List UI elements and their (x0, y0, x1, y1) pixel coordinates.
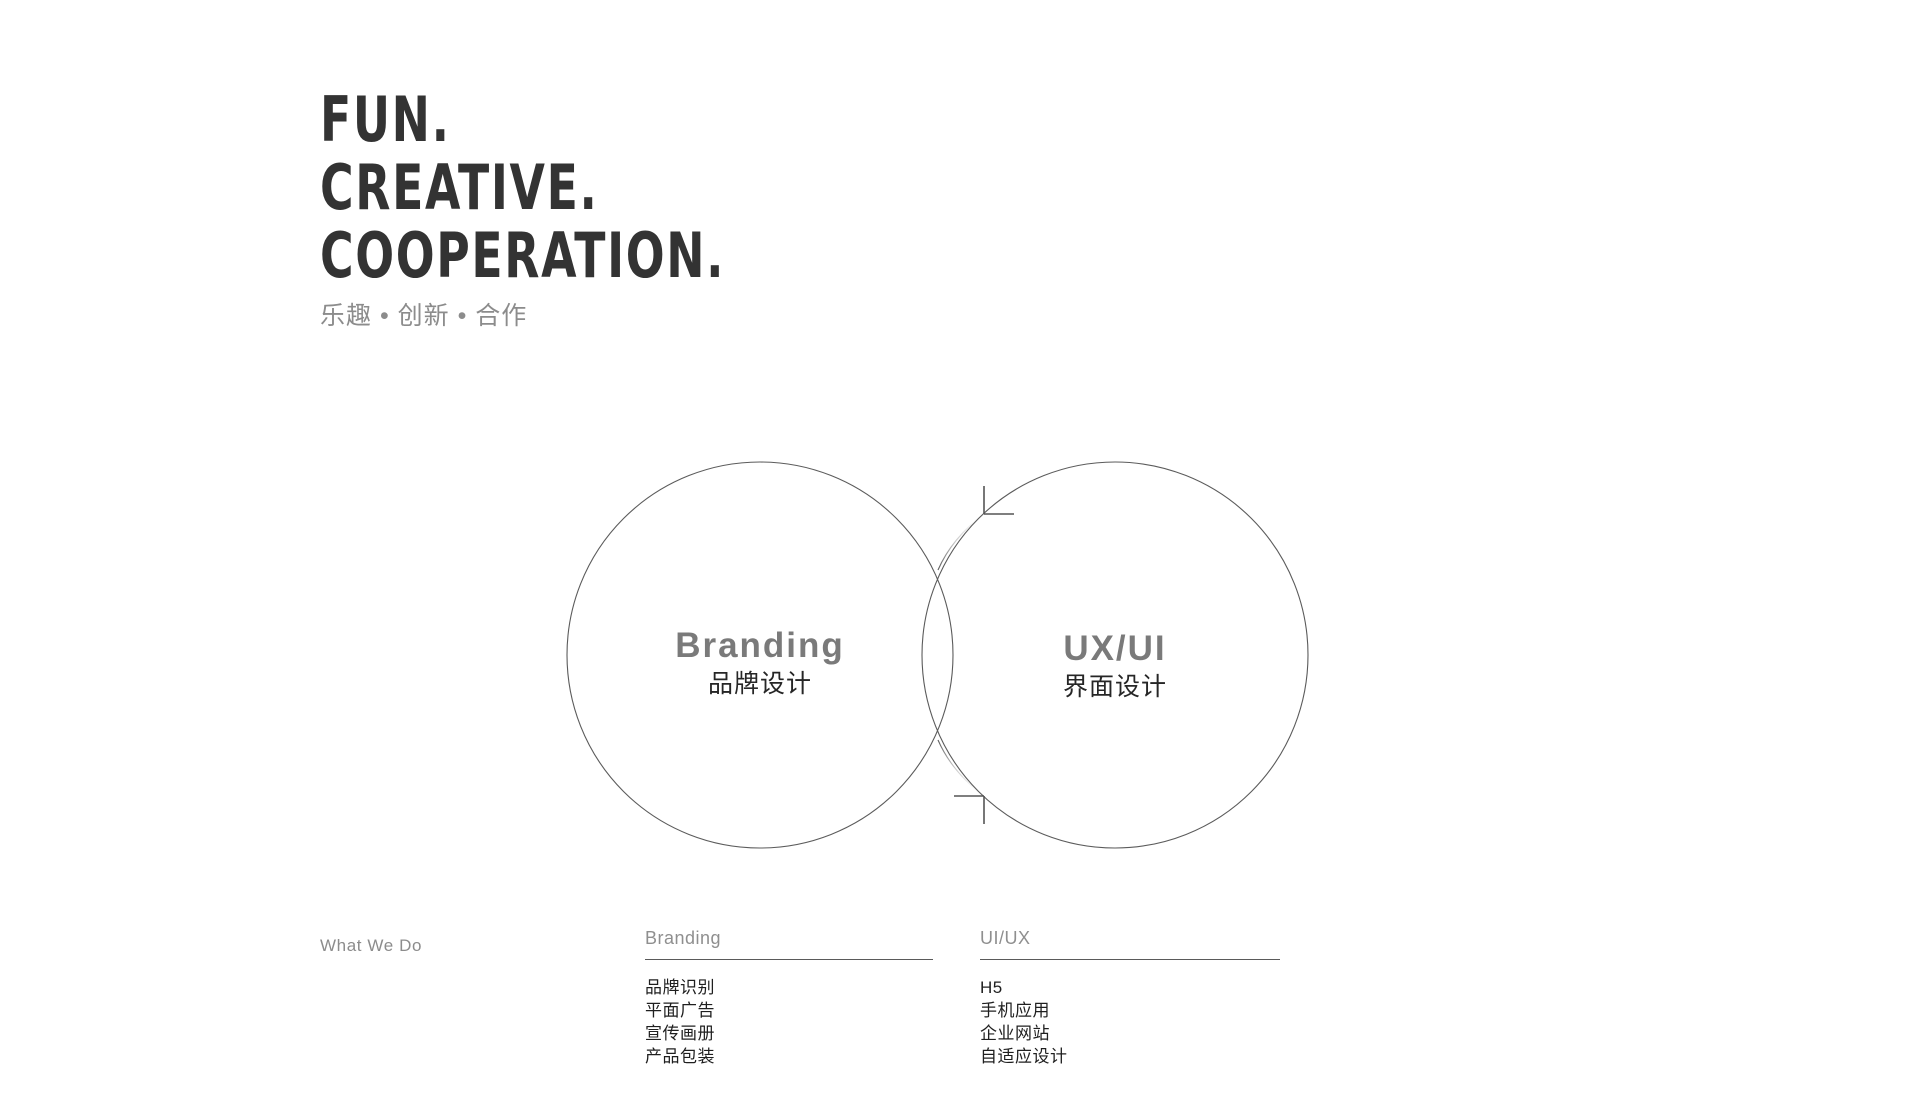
venn-flow-arc-bottom (938, 740, 984, 796)
column-heading-branding: Branding (645, 928, 933, 959)
list-item: 品牌识别 (645, 976, 933, 999)
list-item: 产品包装 (645, 1045, 933, 1068)
venn-label-branding-en: Branding (570, 625, 950, 667)
list-item: H5 (980, 976, 1280, 999)
venn-label-uxui-cn: 界面设计 (925, 670, 1305, 704)
list-item: 平面广告 (645, 999, 933, 1022)
headline-block: FUN. CREATIVE. COOPERATION. 乐趣 • 创新 • 合作 (320, 86, 814, 332)
service-list-uiux: H5 手机应用 企业网站 自适应设计 (980, 960, 1280, 1068)
venn-diagram: Branding 品牌设计 UX/UI 界面设计 (540, 430, 1340, 890)
list-item: 企业网站 (980, 1022, 1280, 1045)
venn-label-uxui-en: UX/UI (925, 628, 1305, 670)
what-we-do-title: What We Do (320, 936, 422, 956)
what-we-do-column-uiux: UI/UX H5 手机应用 企业网站 自适应设计 (980, 928, 1280, 1068)
headline-line-3: COOPERATION. (320, 222, 725, 290)
list-item: 手机应用 (980, 999, 1280, 1022)
venn-label-branding: Branding 品牌设计 (570, 625, 950, 701)
headline-subtitle: 乐趣 • 创新 • 合作 (320, 300, 814, 332)
headline-line-2: CREATIVE. (320, 154, 725, 222)
what-we-do-column-branding: Branding 品牌识别 平面广告 宣传画册 产品包装 (645, 928, 933, 1068)
column-heading-uiux: UI/UX (980, 928, 1280, 959)
venn-label-branding-cn: 品牌设计 (570, 667, 950, 701)
venn-label-uxui: UX/UI 界面设计 (925, 628, 1305, 704)
list-item: 自适应设计 (980, 1045, 1280, 1068)
headline-line-1: FUN. (320, 86, 725, 154)
venn-flow-arc-top (938, 514, 984, 570)
arrowhead-bottom-icon (954, 796, 984, 824)
service-list-branding: 品牌识别 平面广告 宣传画册 产品包装 (645, 960, 933, 1068)
poster-canvas: FUN. CREATIVE. COOPERATION. 乐趣 • 创新 • 合作 (0, 0, 1920, 1117)
list-item: 宣传画册 (645, 1022, 933, 1045)
